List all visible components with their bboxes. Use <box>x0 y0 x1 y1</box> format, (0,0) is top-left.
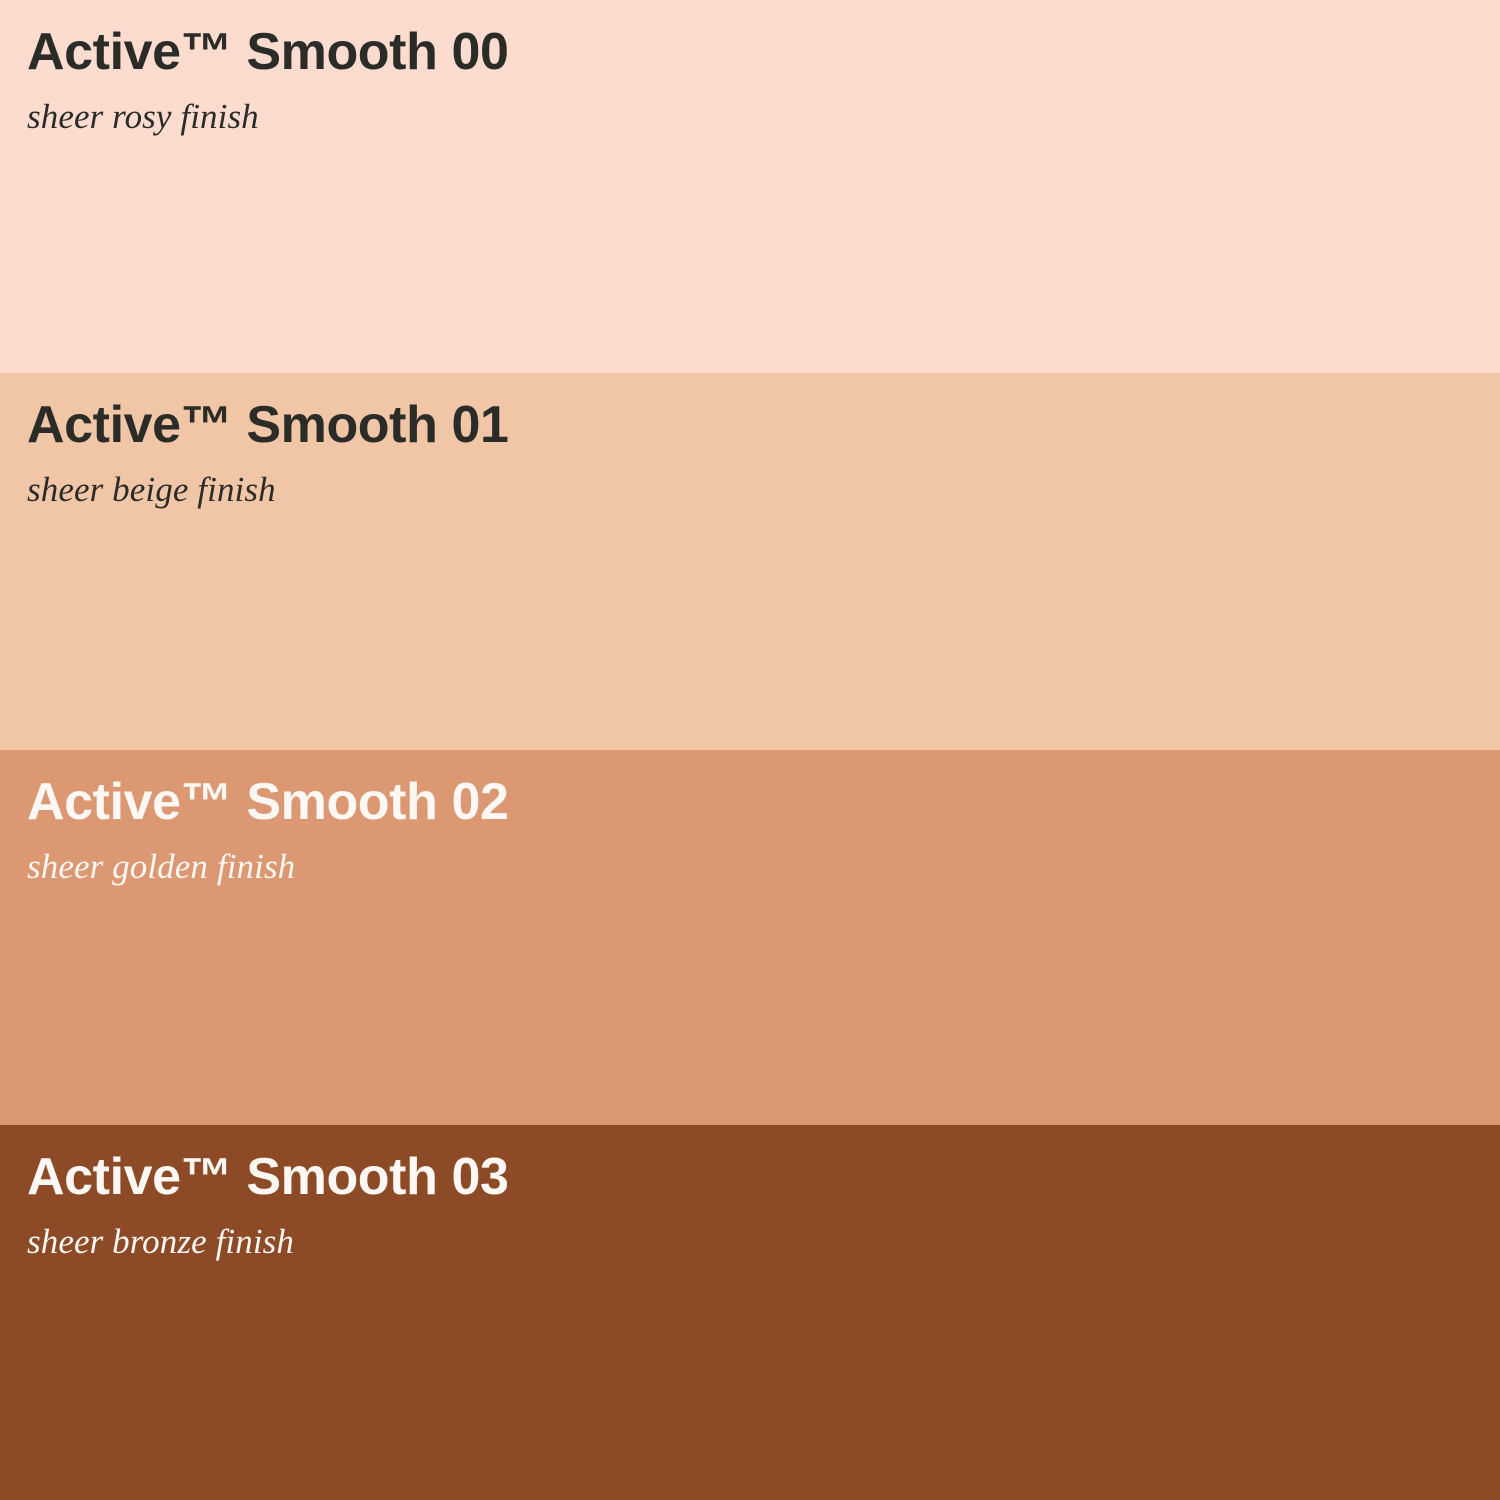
swatch-subtitle: sheer golden finish <box>27 828 509 884</box>
swatch-band-02[interactable]: Active™ Smooth 02 sheer golden finish <box>0 750 1500 1125</box>
swatch-subtitle: sheer bronze finish <box>27 1203 509 1259</box>
swatch-band-03[interactable]: Active™ Smooth 03 sheer bronze finish <box>0 1125 1500 1500</box>
swatch-text-group: Active™ Smooth 01 sheer beige finish <box>27 399 509 507</box>
swatch-text-group: Active™ Smooth 03 sheer bronze finish <box>27 1151 509 1259</box>
swatch-text-group: Active™ Smooth 00 sheer rosy finish <box>27 26 509 134</box>
swatch-title: Active™ Smooth 00 <box>27 26 509 78</box>
swatch-title: Active™ Smooth 01 <box>27 399 509 451</box>
swatch-band-00[interactable]: Active™ Smooth 00 sheer rosy finish <box>0 0 1500 373</box>
swatch-subtitle: sheer beige finish <box>27 451 509 507</box>
swatch-text-group: Active™ Smooth 02 sheer golden finish <box>27 776 509 884</box>
swatch-title: Active™ Smooth 02 <box>27 776 509 828</box>
swatch-stack: Active™ Smooth 00 sheer rosy finish Acti… <box>0 0 1500 1500</box>
swatch-subtitle: sheer rosy finish <box>27 78 509 134</box>
swatch-title: Active™ Smooth 03 <box>27 1151 509 1203</box>
swatch-band-01[interactable]: Active™ Smooth 01 sheer beige finish <box>0 373 1500 750</box>
